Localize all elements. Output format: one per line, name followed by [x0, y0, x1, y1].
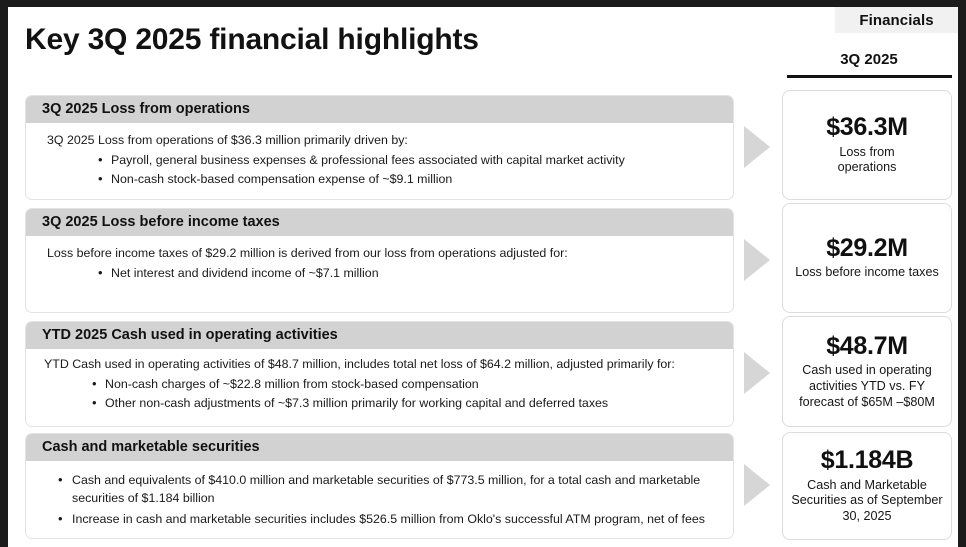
block-heading: YTD 2025 Cash used in operating activiti…	[26, 322, 733, 349]
block-bullet-list: Payroll, general business expenses & pro…	[96, 152, 721, 189]
metric-card-loss-before-income-taxes: $29.2M Loss before income taxes	[782, 203, 952, 313]
list-item: Increase in cash and marketable securiti…	[56, 511, 721, 529]
metric-card-cash-marketable-securities: $1.184B Cash and Marketable Securities a…	[782, 432, 952, 540]
highlight-block-loss-before-income-taxes: 3Q 2025 Loss before income taxes Loss be…	[25, 208, 734, 313]
block-bullet-list: Cash and equivalents of $410.0 million a…	[56, 472, 721, 529]
column-heading: 3Q 2025	[780, 51, 958, 68]
metric-caption: Loss from operations	[811, 145, 923, 176]
block-heading: 3Q 2025 Loss before income taxes	[26, 209, 733, 236]
block-body: YTD Cash used in operating activities of…	[26, 349, 733, 422]
list-item: Non-cash stock-based compensation expens…	[96, 171, 721, 189]
metric-card-cash-used-operating: $48.7M Cash used in operating activities…	[782, 316, 952, 427]
highlight-block-loss-from-operations: 3Q 2025 Loss from operations 3Q 2025 Los…	[25, 95, 734, 200]
metric-caption: Cash used in operating activities YTD vs…	[783, 363, 951, 410]
metric-card-loss-from-operations: $36.3M Loss from operations	[782, 90, 952, 200]
metric-value: $29.2M	[826, 235, 908, 263]
slide-canvas: Financials Key 3Q 2025 financial highlig…	[8, 7, 958, 547]
block-body: Loss before income taxes of $29.2 millio…	[26, 236, 733, 291]
metric-value: $36.3M	[826, 114, 908, 142]
list-item: Non-cash charges of ~$22.8 million from …	[90, 376, 721, 394]
list-item: Cash and equivalents of $410.0 million a…	[56, 472, 721, 507]
arrow-right-icon	[744, 239, 770, 281]
financials-tab-label: Financials	[859, 12, 933, 29]
metric-value: $48.7M	[826, 333, 908, 361]
page-title: Key 3Q 2025 financial highlights	[25, 23, 479, 57]
highlight-block-cash-used-operating: YTD 2025 Cash used in operating activiti…	[25, 321, 734, 427]
block-intro-text: 3Q 2025 Loss from operations of $36.3 mi…	[47, 132, 721, 150]
metric-caption: Cash and Marketable Securities as of Sep…	[783, 478, 951, 525]
list-item: Other non-cash adjustments of ~$7.3 mill…	[90, 395, 721, 413]
block-body: 3Q 2025 Loss from operations of $36.3 mi…	[26, 123, 733, 198]
block-bullet-list: Non-cash charges of ~$22.8 million from …	[90, 376, 721, 413]
block-bullet-list: Net interest and dividend income of ~$7.…	[96, 265, 721, 283]
block-intro-text: YTD Cash used in operating activities of…	[44, 356, 721, 374]
arrow-right-icon	[744, 464, 770, 506]
metric-value: $1.184B	[821, 447, 913, 475]
metric-caption: Loss before income taxes	[789, 265, 945, 281]
highlight-block-cash-marketable-securities: Cash and marketable securities Cash and …	[25, 433, 734, 539]
block-intro-text: Loss before income taxes of $29.2 millio…	[47, 245, 721, 263]
list-item: Payroll, general business expenses & pro…	[96, 152, 721, 170]
block-heading: Cash and marketable securities	[26, 434, 733, 461]
block-heading: 3Q 2025 Loss from operations	[26, 96, 733, 123]
financials-tab[interactable]: Financials	[835, 7, 958, 33]
block-body: Cash and equivalents of $410.0 million a…	[26, 461, 733, 539]
arrow-right-icon	[744, 126, 770, 168]
column-heading-rule	[787, 75, 952, 78]
list-item: Net interest and dividend income of ~$7.…	[96, 265, 721, 283]
arrow-right-icon	[744, 352, 770, 394]
